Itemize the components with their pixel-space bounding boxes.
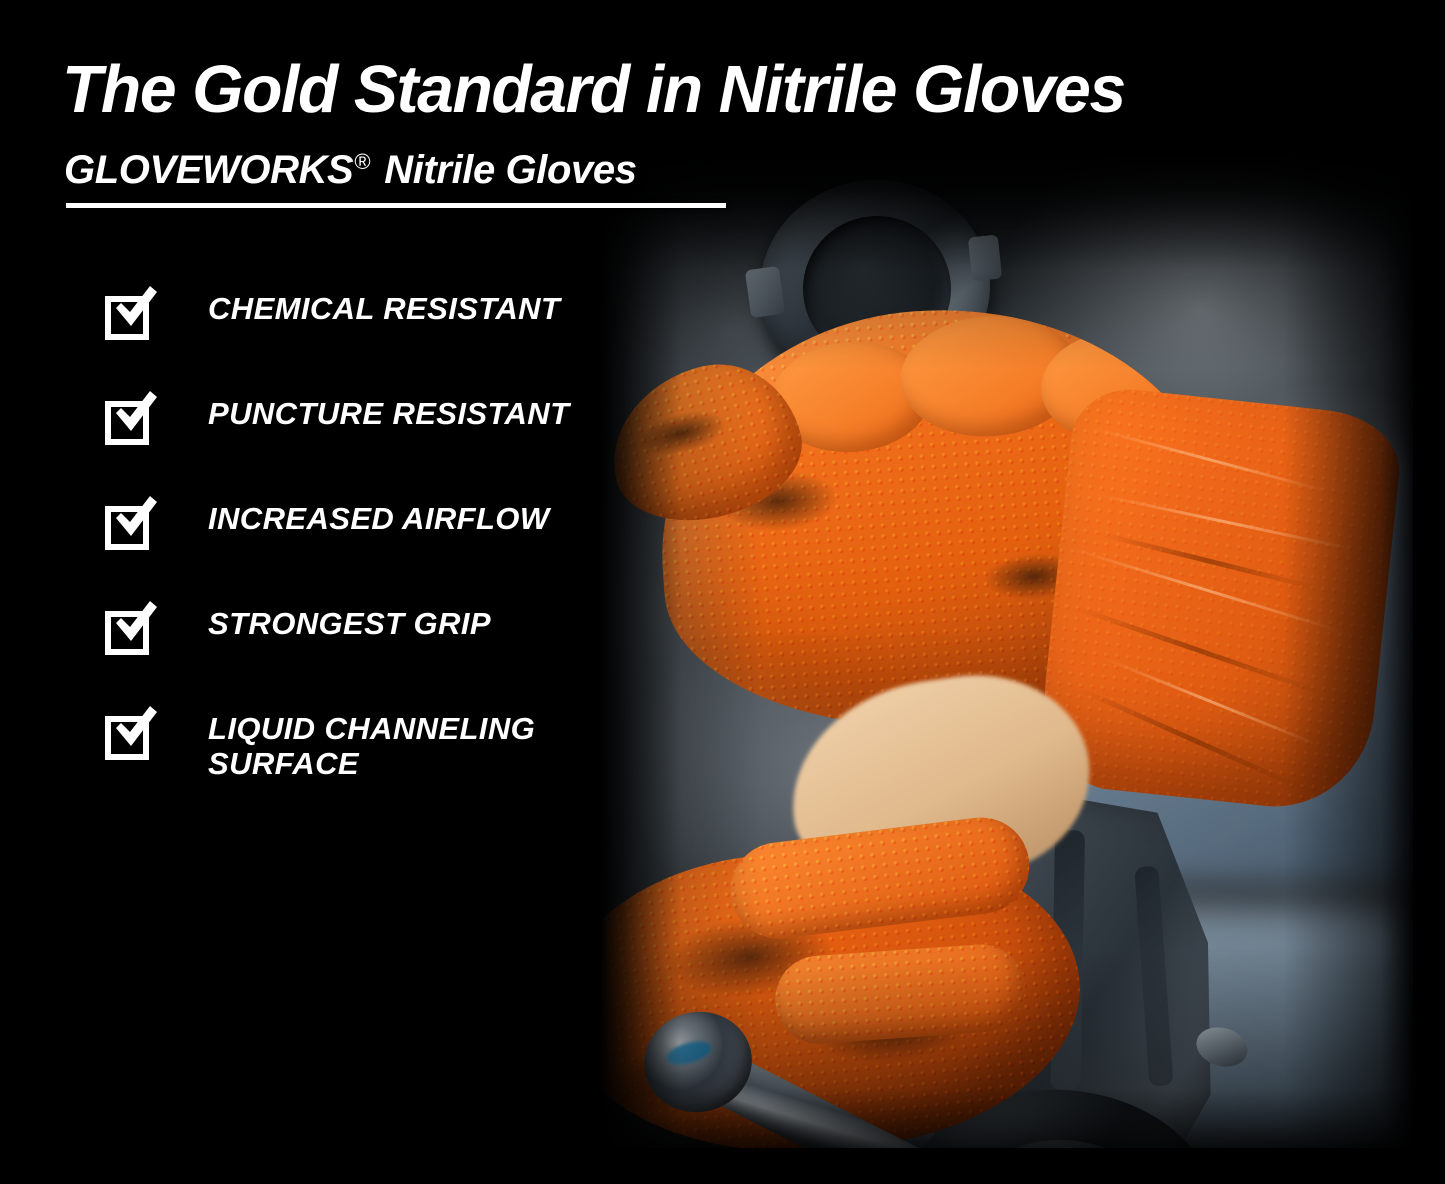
right-border xyxy=(1413,0,1445,1184)
title-divider xyxy=(66,203,726,208)
photo-vignette xyxy=(600,150,1413,1148)
bottom-border xyxy=(0,1148,1445,1184)
checkbox-checked-icon xyxy=(104,708,161,768)
list-item-label: CHEMICAL RESISTANT xyxy=(208,292,668,327)
brand-name: GLOVEWORKS xyxy=(64,148,353,192)
list-item: LIQUID CHANNELING SURFACE xyxy=(104,708,664,813)
list-item-label: INCREASED AIRFLOW xyxy=(208,502,668,537)
product-name: Nitrile Gloves xyxy=(374,148,637,192)
checkbox-checked-icon xyxy=(104,393,161,453)
banner-root: 45 xyxy=(0,0,1445,1184)
checkbox-checked-icon xyxy=(104,603,161,663)
list-item: CHEMICAL RESISTANT xyxy=(104,288,664,393)
product-photo: 45 xyxy=(600,150,1413,1148)
list-item-label: STRONGEST GRIP xyxy=(208,607,668,642)
list-item: PUNCTURE RESISTANT xyxy=(104,393,664,498)
registered-trademark-icon: ® xyxy=(354,149,370,174)
product-subtitle: GLOVEWORKS® Nitrile Gloves xyxy=(64,148,637,193)
page-title: The Gold Standard in Nitrile Gloves xyxy=(62,56,1372,123)
list-item-label: LIQUID CHANNELING SURFACE xyxy=(208,712,608,781)
top-border xyxy=(0,0,1445,6)
checkbox-checked-icon xyxy=(104,498,161,558)
list-item: STRONGEST GRIP xyxy=(104,603,664,708)
feature-list: CHEMICAL RESISTANT PUNCTURE RESISTANT IN… xyxy=(104,288,664,813)
list-item: INCREASED AIRFLOW xyxy=(104,498,664,603)
checkbox-checked-icon xyxy=(104,288,161,348)
list-item-label: PUNCTURE RESISTANT xyxy=(208,397,668,432)
